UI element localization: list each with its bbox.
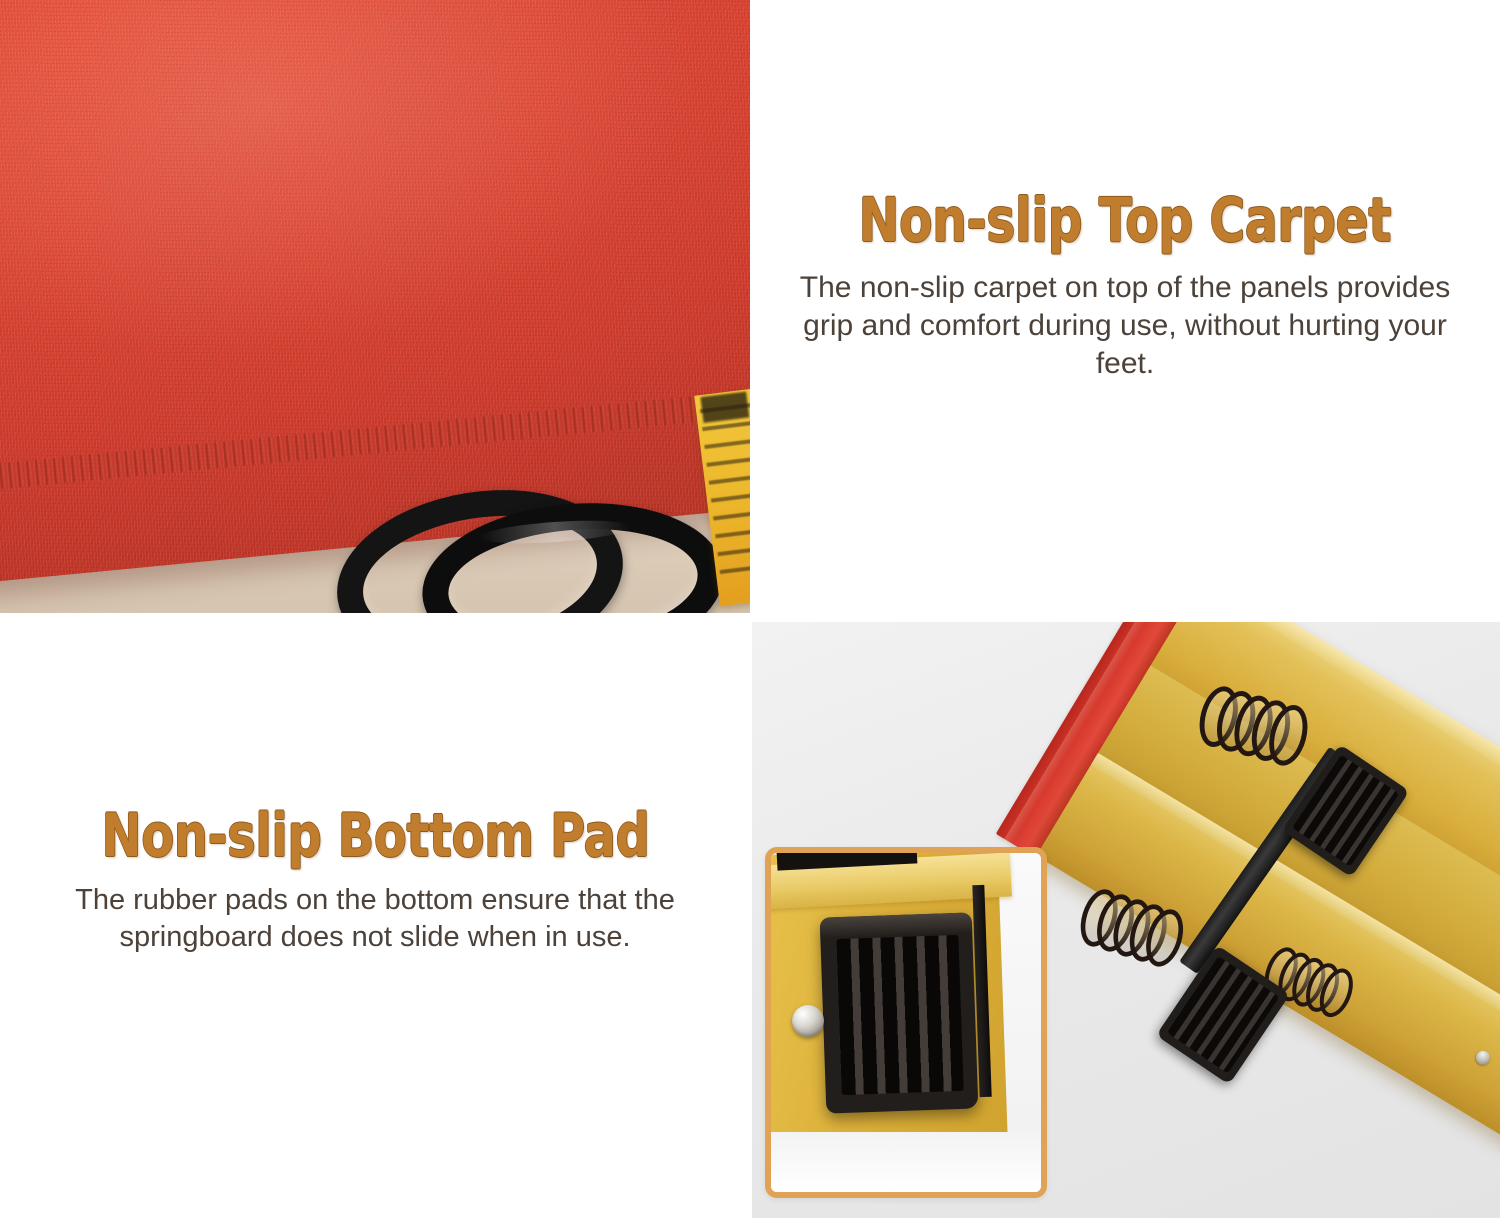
spring-coil [330,478,710,613]
inset-floor [771,1132,1041,1192]
feature-text-bottom-pad: Non-slip Bottom Pad The rubber pads on t… [0,613,750,1218]
feature-heading-top-carpet: Non-slip Top Carpet [859,189,1392,252]
feature-text-top-carpet: Non-slip Top Carpet The non-slip carpet … [750,0,1500,613]
feature-heading-bottom-pad: Non-slip Bottom Pad [101,805,649,867]
inset-pad-ribs [836,935,963,1095]
inset-bolt-head [792,1005,824,1037]
rubber-pad-detail-inset [765,847,1047,1198]
feature-body-bottom-pad: The rubber pads on the bottom ensure tha… [35,882,715,956]
inset-pad-top-lip [820,912,973,937]
inset-rubber-pad [820,912,979,1113]
feature-body-top-carpet: The non-slip carpet on top of the panels… [775,269,1475,384]
product-feature-infographic: Non-slip Top Carpet The non-slip carpet … [0,0,1500,1218]
carpet-photo [0,0,750,613]
